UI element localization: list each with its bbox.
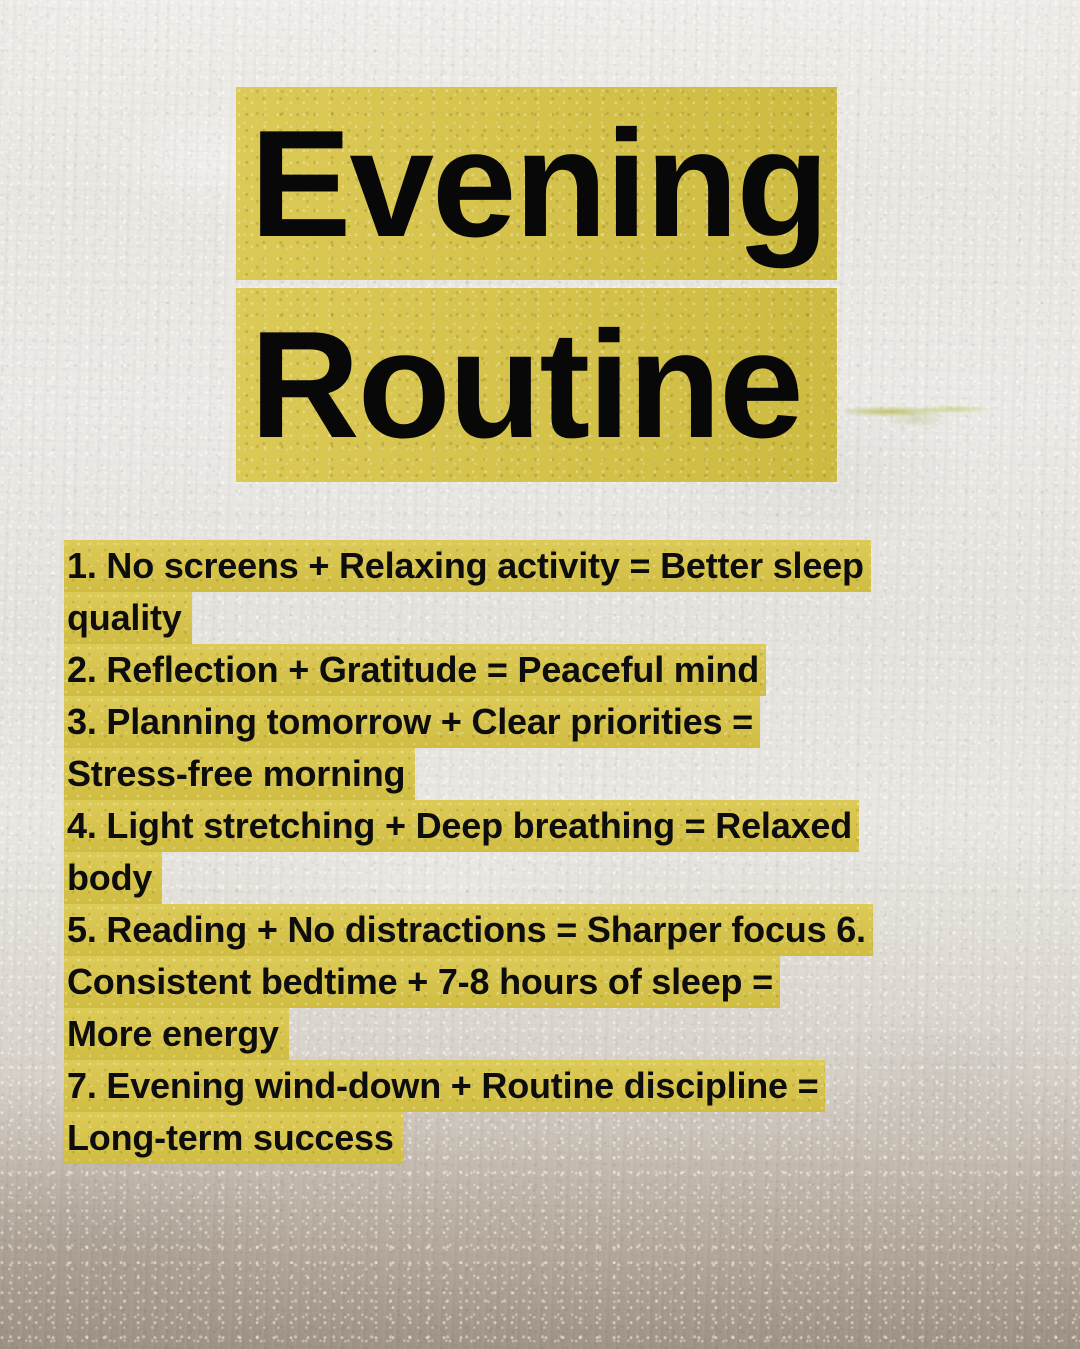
list-item: 1. No screens + Relaxing activity = Bett… (64, 540, 1024, 644)
poster-title: Evening Routine (236, 87, 837, 482)
tips-list: 1. No screens + Relaxing activity = Bett… (64, 540, 1024, 1164)
tip-7-line-2: Long-term success (64, 1112, 404, 1164)
tip-4-line-1: 4. Light stretching + Deep breathing = R… (64, 800, 859, 852)
list-item: 5. Reading + No distractions = Sharper f… (64, 904, 1024, 956)
tip-2-line-1: 2. Reflection + Gratitude = Peaceful min… (64, 644, 766, 696)
title-line-routine-text: Routine (250, 300, 802, 470)
green-smudge-mark (845, 398, 995, 428)
list-item: 3. Planning tomorrow + Clear priorities … (64, 696, 1024, 800)
tip-4-line-2: body (64, 852, 162, 904)
list-item: 4. Light stretching + Deep breathing = R… (64, 800, 1024, 904)
tip-3-line-1: 3. Planning tomorrow + Clear priorities … (64, 696, 760, 748)
title-line-routine: Routine (236, 288, 837, 481)
list-item: 2. Reflection + Gratitude = Peaceful min… (64, 644, 1024, 696)
tip-5-line-1: 5. Reading + No distractions = Sharper f… (64, 904, 873, 956)
poster-canvas: Evening Routine 1. No screens + Relaxing… (0, 0, 1080, 1349)
tip-1-line-1: 1. No screens + Relaxing activity = Bett… (64, 540, 871, 592)
tip-1-line-2: quality (64, 592, 192, 644)
list-item: 7. Evening wind-down + Routine disciplin… (64, 1060, 1024, 1164)
tip-3-line-2: Stress-free morning (64, 748, 415, 800)
tip-7-line-1: 7. Evening wind-down + Routine disciplin… (64, 1060, 825, 1112)
title-line-evening-text: Evening (250, 99, 827, 269)
tip-6-line-1: Consistent bedtime + 7-8 hours of sleep … (64, 956, 780, 1008)
title-line-evening: Evening (236, 87, 837, 280)
tip-6-line-2: More energy (64, 1008, 289, 1060)
list-item: Consistent bedtime + 7-8 hours of sleep … (64, 956, 1024, 1060)
